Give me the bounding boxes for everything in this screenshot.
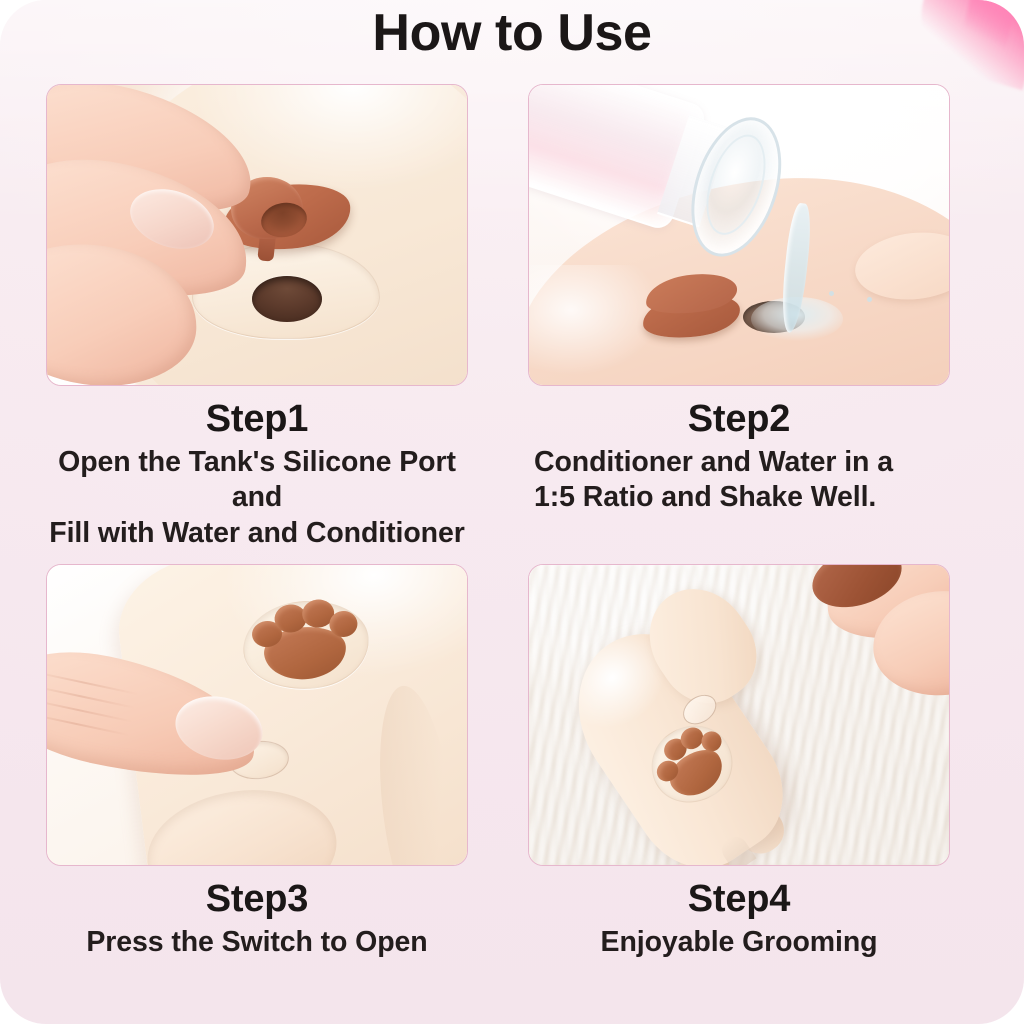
step-2-body-line-2: 1:5 Ratio and Shake Well. xyxy=(534,480,950,516)
step-1-body: Open the Tank's Silicone Port and Fill w… xyxy=(46,445,468,553)
step-2-body: Conditioner and Water in a 1:5 Ratio and… xyxy=(528,445,950,517)
step-2-body-line-1: Conditioner and Water in a xyxy=(534,445,950,481)
step-4-body-line-1: Enjoyable Grooming xyxy=(528,925,950,961)
paw-print-button-icon xyxy=(243,595,369,687)
step-1-body-line-1: Open the Tank's Silicone Port and xyxy=(46,445,468,517)
step-4-body: Enjoyable Grooming xyxy=(528,925,950,961)
step-3-body: Press the Switch to Open xyxy=(46,925,468,961)
step-card-4: Step4 Enjoyable Grooming xyxy=(528,564,950,960)
fill-port-hole-icon xyxy=(252,276,322,322)
step-2-heading: Step2 xyxy=(528,398,950,441)
step-1-body-line-2: Fill with Water and Conditioner xyxy=(46,516,468,552)
step-card-1: Step1 Open the Tank's Silicone Port and … xyxy=(46,84,468,552)
step-3-photo xyxy=(46,564,468,866)
step-card-2: Step2 Conditioner and Water in a 1:5 Rat… xyxy=(528,84,950,516)
page-title: How to Use xyxy=(0,5,1024,62)
infographic-page: How to Use Step1 Open xyxy=(0,0,1024,1024)
step-4-heading: Step4 xyxy=(528,878,950,921)
step-2-photo xyxy=(528,84,950,386)
step-4-photo xyxy=(528,564,950,866)
step-1-heading: Step1 xyxy=(46,398,468,441)
water-droplet xyxy=(829,291,834,296)
water-droplet xyxy=(867,297,872,302)
hand-illustration xyxy=(785,564,950,689)
step-3-body-line-1: Press the Switch to Open xyxy=(46,925,468,961)
step-1-photo xyxy=(46,84,468,386)
step-3-heading: Step3 xyxy=(46,878,468,921)
step-card-3: Step3 Press the Switch to Open xyxy=(46,564,468,960)
